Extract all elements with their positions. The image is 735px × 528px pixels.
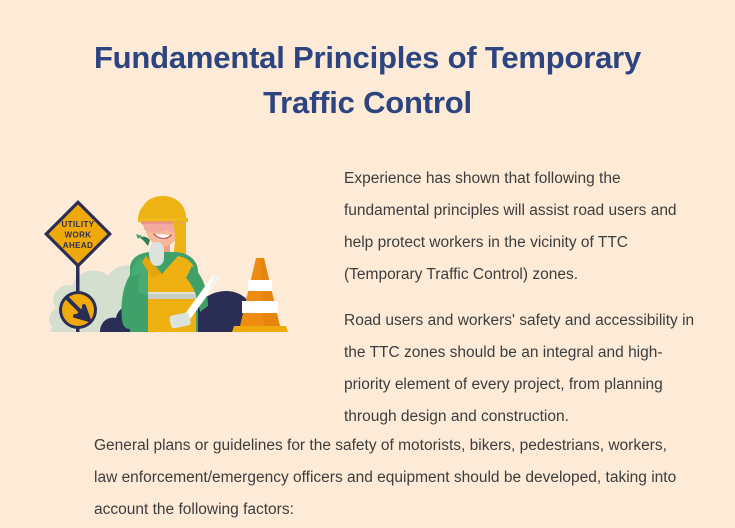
sign-line-1: UTILITY <box>61 220 94 229</box>
paragraph-experience: Experience has shown that following the … <box>344 163 700 291</box>
paragraph-general-plans: General plans or guidelines for the safe… <box>94 430 694 526</box>
article-page: Fundamental Principles of Temporary Traf… <box>0 0 735 528</box>
paragraph-road-users-safety: Road users and workers' safety and acces… <box>344 305 700 433</box>
utility-work-ahead-sign: UTILITY WORK AHEAD <box>44 200 112 268</box>
page-title: Fundamental Principles of Temporary Traf… <box>60 35 675 125</box>
illustration-svg: UTILITY WORK AHEAD <box>42 196 302 353</box>
arrow-direction-sign <box>59 291 97 329</box>
road-worker-illustration: UTILITY WORK AHEAD <box>42 196 302 353</box>
sign-line-2: WORK <box>65 231 92 240</box>
sign-line-3: AHEAD <box>63 241 93 250</box>
bottom-text-block: General plans or guidelines for the safe… <box>94 430 694 526</box>
right-text-column: Experience has shown that following the … <box>344 163 700 433</box>
